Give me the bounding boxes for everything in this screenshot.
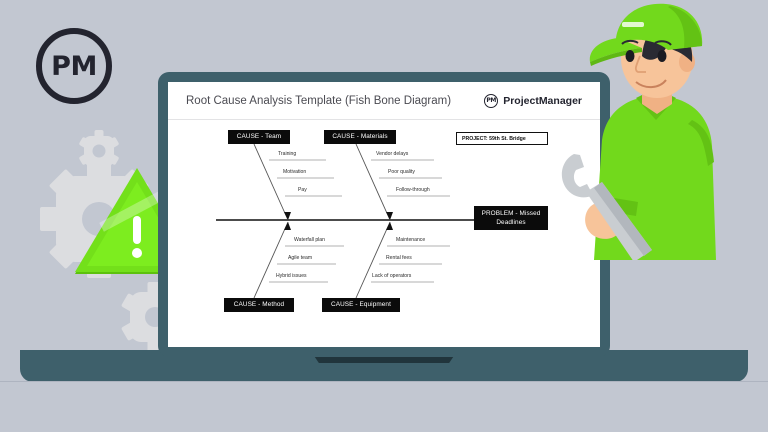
cause-label: CAUSE - Method — [234, 300, 284, 309]
worker-illustration — [560, 0, 768, 260]
laptop-screen: Root Cause Analysis Template (Fish Bone … — [168, 82, 600, 347]
subcause-label: Motivation — [283, 169, 306, 175]
subcause-label: Lack of operators — [372, 273, 411, 279]
pm-mark-icon: PM — [484, 94, 498, 108]
laptop-lid: Root Cause Analysis Template (Fish Bone … — [158, 72, 610, 357]
subcause-label: Vendor delays — [376, 151, 408, 157]
cause-box-team: CAUSE - Team — [228, 130, 290, 144]
project-box: PROJECT: 59th St. Bridge — [456, 132, 548, 145]
subcause-label: Pay — [298, 187, 307, 193]
problem-line-2: Deadlines — [496, 218, 525, 227]
subcause-label: Hybrid issues — [276, 273, 307, 279]
pm-logo: PM — [36, 28, 112, 104]
subcause-label: Poor quality — [388, 169, 415, 175]
document-header: Root Cause Analysis Template (Fish Bone … — [168, 82, 600, 120]
cause-label: CAUSE - Equipment — [331, 300, 391, 309]
subcause-label: Waterfall plan — [294, 237, 325, 243]
cause-box-method: CAUSE - Method — [224, 298, 294, 312]
page-title: Root Cause Analysis Template (Fish Bone … — [186, 95, 451, 107]
pm-logo-text: PM — [51, 51, 97, 82]
subcause-label: Rental fees — [386, 255, 412, 261]
subcause-label: Maintenance — [396, 237, 425, 243]
problem-line-1: PROBLEM - Missed — [482, 209, 541, 218]
problem-box: PROBLEM - Missed Deadlines — [474, 206, 548, 230]
subcause-label: Training — [278, 151, 296, 157]
fishbone-diagram: PROJECT: 59th St. Bridge PROBLEM - Misse… — [168, 120, 600, 347]
desk-line — [0, 381, 768, 382]
cause-box-materials: CAUSE - Materials — [324, 130, 396, 144]
cause-label: CAUSE - Materials — [332, 132, 387, 141]
cause-label: CAUSE - Team — [237, 132, 281, 141]
cause-box-equipment: CAUSE - Equipment — [322, 298, 400, 312]
screenshot-root: PM Root Cause — [0, 0, 768, 432]
pm-mark-text: PM — [486, 97, 496, 104]
project-label: PROJECT: 59th St. Bridge — [462, 136, 526, 142]
subcause-label: Agile team — [288, 255, 312, 261]
subcause-label: Follow-through — [396, 187, 430, 193]
